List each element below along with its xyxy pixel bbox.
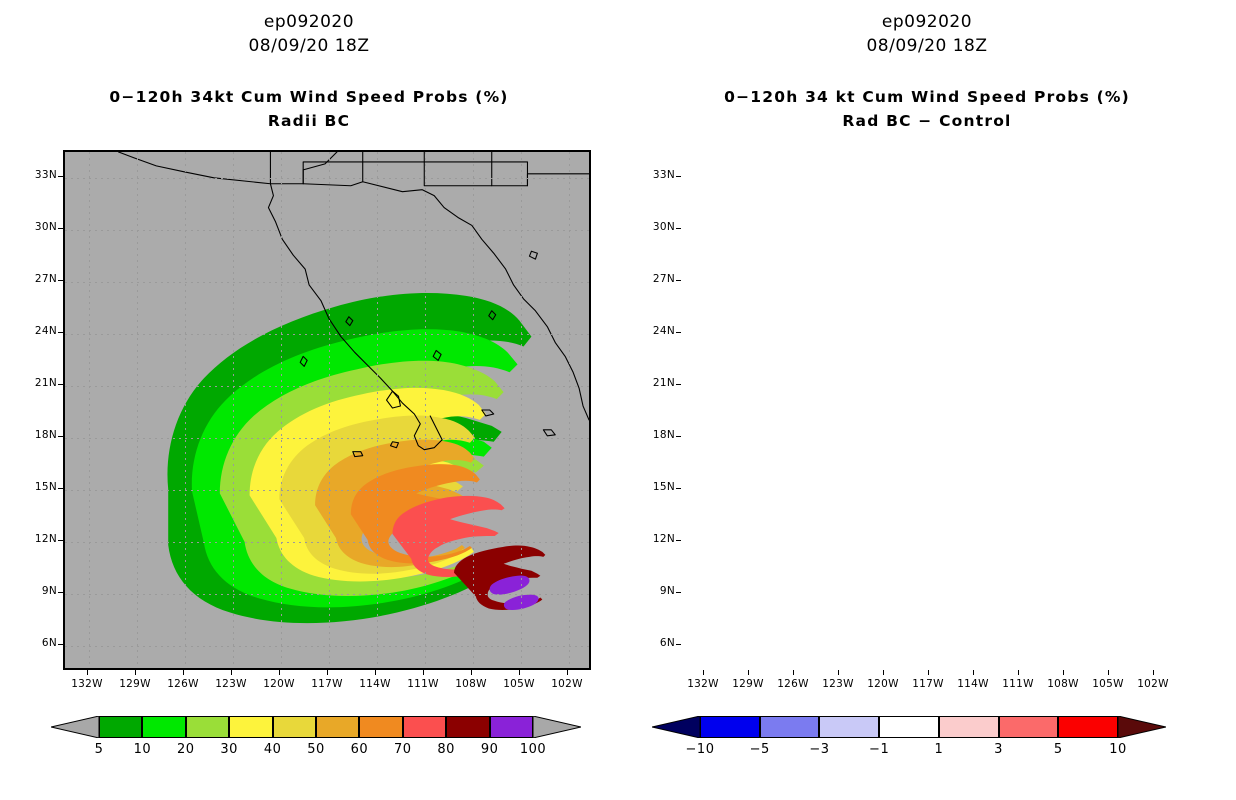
- left-ytick-18N: 18N: [23, 429, 57, 441]
- left-xtickmark: [423, 670, 424, 675]
- right-ytick-30N: 30N: [641, 221, 675, 233]
- right-xtick-105W: 105W: [1088, 678, 1128, 690]
- right-xtickmark: [793, 670, 794, 675]
- difference-colorbar-tick-0: −10: [680, 742, 720, 757]
- difference-colorbar-swatch-3: [879, 716, 939, 738]
- left-title-line2: Radii BC: [0, 112, 618, 130]
- left-xtick-129W: 129W: [115, 678, 155, 690]
- right-xtick-123W: 123W: [818, 678, 858, 690]
- probability-colorbar-tick-2: 20: [166, 742, 206, 757]
- wind-speed-probability-figure: ep092020 08/09/20 18Z 0−120h 34kt Cum Wi…: [0, 0, 1236, 800]
- right-ytick-27N: 27N: [641, 273, 675, 285]
- right-xtick-114W: 114W: [953, 678, 993, 690]
- right-title-line1: 0−120h 34 kt Cum Wind Speed Probs (%): [618, 88, 1236, 106]
- probability-colorbar-tick-4: 40: [253, 742, 293, 757]
- probability-colorbar-swatch-7: [403, 716, 446, 738]
- left-xtick-111W: 111W: [403, 678, 443, 690]
- left-ytickmark: [58, 176, 63, 177]
- probability-colorbar-swatch-1: [142, 716, 185, 738]
- difference-colorbar-swatch-5: [999, 716, 1059, 738]
- difference-colorbar-tick-5: 3: [979, 742, 1019, 757]
- right-ytick-21N: 21N: [641, 377, 675, 389]
- left-xtick-132W: 132W: [67, 678, 107, 690]
- left-xtick-123W: 123W: [211, 678, 251, 690]
- probability-colorbar-swatch-6: [359, 716, 402, 738]
- probability-colorbar-tick-9: 90: [470, 742, 510, 757]
- difference-colorbar-tick-2: −3: [799, 742, 839, 757]
- right-xtickmark: [1153, 670, 1154, 675]
- right-xtick-126W: 126W: [773, 678, 813, 690]
- right-ytick-15N: 15N: [641, 481, 675, 493]
- difference-colorbar-swatch-6: [1058, 716, 1118, 738]
- left-ytickmark: [58, 280, 63, 281]
- probability-colorbar-low-arrow: [51, 716, 99, 738]
- probability-colorbar-swatch-0: [99, 716, 142, 738]
- difference-colorbar: −10−5−3−113510: [700, 716, 1118, 738]
- right-ytickmark: [676, 540, 681, 541]
- probability-colorbar-swatch-3: [229, 716, 272, 738]
- right-xtick-120W: 120W: [863, 678, 903, 690]
- probability-colorbar-tick-1: 10: [122, 742, 162, 757]
- right-xtickmark: [1108, 670, 1109, 675]
- left-title-line1: 0−120h 34kt Cum Wind Speed Probs (%): [0, 88, 618, 106]
- left-probability-contours: [65, 152, 589, 668]
- right-ytickmark: [676, 228, 681, 229]
- right-title-line2: Rad BC − Control: [618, 112, 1236, 130]
- left-ytick-6N: 6N: [23, 637, 57, 649]
- left-xtickmark: [567, 670, 568, 675]
- right-xtickmark: [1063, 670, 1064, 675]
- difference-colorbar-tick-3: −1: [859, 742, 899, 757]
- left-xtickmark: [87, 670, 88, 675]
- right-xtick-117W: 117W: [908, 678, 948, 690]
- left-ytick-30N: 30N: [23, 221, 57, 233]
- left-xtickmark: [135, 670, 136, 675]
- right-ytick-18N: 18N: [641, 429, 675, 441]
- left-ytickmark: [58, 644, 63, 645]
- right-ytick-12N: 12N: [641, 533, 675, 545]
- probability-colorbar-swatch-9: [490, 716, 533, 738]
- difference-colorbar-tick-7: 10: [1098, 742, 1138, 757]
- left-datetime: 08/09/20 18Z: [0, 36, 618, 56]
- left-ytick-24N: 24N: [23, 325, 57, 337]
- right-ytick-6N: 6N: [641, 637, 675, 649]
- right-xtick-132W: 132W: [683, 678, 723, 690]
- difference-colorbar-swatch-0: [700, 716, 760, 738]
- probability-colorbar-tick-6: 60: [339, 742, 379, 757]
- right-ytick-9N: 9N: [641, 585, 675, 597]
- right-ytickmark: [676, 436, 681, 437]
- right-xtick-111W: 111W: [998, 678, 1038, 690]
- right-ytickmark: [676, 332, 681, 333]
- probability-colorbar-tick-10: 100: [513, 742, 553, 757]
- left-xtickmark: [279, 670, 280, 675]
- probability-colorbar: 5102030405060708090100: [99, 716, 533, 738]
- right-ytickmark: [676, 592, 681, 593]
- right-xtickmark: [883, 670, 884, 675]
- difference-colorbar-low-arrow: [652, 716, 700, 738]
- left-xtick-102W: 102W: [547, 678, 587, 690]
- probability-colorbar-swatch-5: [316, 716, 359, 738]
- right-xtick-129W: 129W: [728, 678, 768, 690]
- left-storm-id: ep092020: [0, 12, 618, 32]
- left-ytick-21N: 21N: [23, 377, 57, 389]
- right-ytickmark: [676, 488, 681, 489]
- difference-colorbar-swatch-4: [939, 716, 999, 738]
- difference-colorbar-swatch-2: [819, 716, 879, 738]
- right-xtickmark: [748, 670, 749, 675]
- probability-colorbar-tick-8: 80: [426, 742, 466, 757]
- probability-colorbar-tick-7: 70: [383, 742, 423, 757]
- right-ytickmark: [676, 176, 681, 177]
- left-ytickmark: [58, 228, 63, 229]
- left-xtick-117W: 117W: [307, 678, 347, 690]
- difference-colorbar-tick-6: 5: [1038, 742, 1078, 757]
- difference-colorbar-high-arrow: [1118, 716, 1166, 738]
- right-ytickmark: [676, 644, 681, 645]
- left-xtickmark: [471, 670, 472, 675]
- left-xtickmark: [327, 670, 328, 675]
- left-xtickmark: [519, 670, 520, 675]
- right-xtickmark: [1018, 670, 1019, 675]
- right-xtickmark: [703, 670, 704, 675]
- probability-colorbar-swatch-8: [446, 716, 489, 738]
- probability-colorbar-tick-5: 50: [296, 742, 336, 757]
- right-ytick-24N: 24N: [641, 325, 675, 337]
- difference-colorbar-tick-1: −5: [740, 742, 780, 757]
- left-ytickmark: [58, 436, 63, 437]
- right-datetime: 08/09/20 18Z: [618, 36, 1236, 56]
- left-xtickmark: [375, 670, 376, 675]
- left-xtickmark: [231, 670, 232, 675]
- left-ytickmark: [58, 384, 63, 385]
- probability-colorbar-tick-3: 30: [209, 742, 249, 757]
- left-ytickmark: [58, 540, 63, 541]
- left-ytick-33N: 33N: [23, 169, 57, 181]
- left-ytickmark: [58, 332, 63, 333]
- probability-colorbar-tick-0: 5: [79, 742, 119, 757]
- right-xtickmark: [928, 670, 929, 675]
- left-ytick-9N: 9N: [23, 585, 57, 597]
- right-xtickmark: [973, 670, 974, 675]
- right-xtick-108W: 108W: [1043, 678, 1083, 690]
- left-xtick-126W: 126W: [163, 678, 203, 690]
- right-ytick-33N: 33N: [641, 169, 675, 181]
- left-ytick-15N: 15N: [23, 481, 57, 493]
- left-ytickmark: [58, 592, 63, 593]
- difference-colorbar-tick-4: 1: [919, 742, 959, 757]
- left-xtick-108W: 108W: [451, 678, 491, 690]
- left-ytick-27N: 27N: [23, 273, 57, 285]
- right-xtick-102W: 102W: [1133, 678, 1173, 690]
- left-xtickmark: [183, 670, 184, 675]
- right-storm-id: ep092020: [618, 12, 1236, 32]
- left-xtick-114W: 114W: [355, 678, 395, 690]
- left-ytickmark: [58, 488, 63, 489]
- difference-colorbar-swatch-1: [760, 716, 820, 738]
- probability-colorbar-swatch-2: [186, 716, 229, 738]
- probability-colorbar-high-arrow: [533, 716, 581, 738]
- right-ytickmark: [676, 384, 681, 385]
- left-xtick-120W: 120W: [259, 678, 299, 690]
- left-map-plot: [63, 150, 591, 670]
- right-xtickmark: [838, 670, 839, 675]
- probability-colorbar-swatch-4: [273, 716, 316, 738]
- left-ytick-12N: 12N: [23, 533, 57, 545]
- right-ytickmark: [676, 280, 681, 281]
- left-xtick-105W: 105W: [499, 678, 539, 690]
